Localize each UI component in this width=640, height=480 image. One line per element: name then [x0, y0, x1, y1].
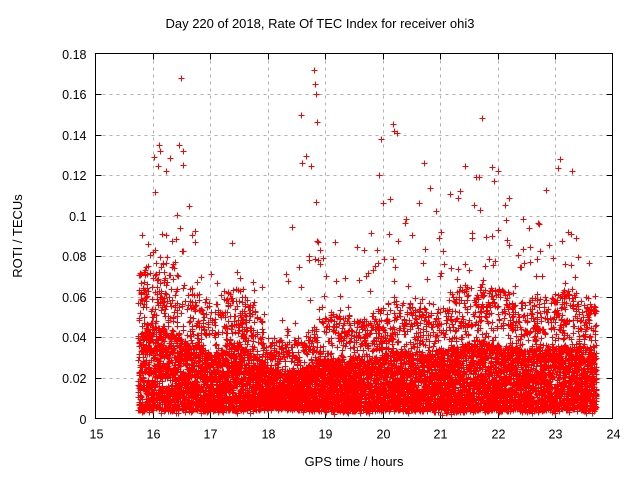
y-tick-label: 0.16 — [62, 88, 86, 102]
x-tick-label: 22 — [492, 428, 506, 442]
y-tick-label: 0.14 — [62, 129, 86, 143]
x-tick-label: 21 — [434, 428, 448, 442]
x-axis-title: GPS time / hours — [305, 454, 404, 469]
y-tick-label: 0.06 — [62, 291, 86, 305]
x-tick-label: 17 — [204, 428, 218, 442]
x-tick-label: 20 — [377, 428, 391, 442]
page-title: Day 220 of 2018, Rate Of TEC Index for r… — [165, 16, 474, 31]
y-tick-label: 0.18 — [62, 48, 86, 62]
x-tick-label: 24 — [607, 428, 621, 442]
y-tick-label: 0.02 — [62, 372, 86, 386]
y-tick-label: 0.12 — [62, 169, 86, 183]
y-tick-label: 0.1 — [69, 210, 86, 224]
x-tick-label: 23 — [549, 428, 563, 442]
x-tick-label: 19 — [319, 428, 333, 442]
y-tick-label: 0.08 — [62, 250, 86, 264]
y-axis-title: ROTI / TECUs — [10, 194, 25, 278]
roti-scatter-plot: Day 220 of 2018, Rate Of TEC Index for r… — [0, 0, 640, 480]
chart-canvas: Day 220 of 2018, Rate Of TEC Index for r… — [0, 0, 640, 480]
y-tick-label: 0 — [80, 413, 87, 427]
x-tick-label: 15 — [90, 428, 104, 442]
y-tick-label: 0.04 — [62, 331, 86, 345]
x-tick-label: 18 — [262, 428, 276, 442]
x-tick-label: 16 — [147, 428, 161, 442]
